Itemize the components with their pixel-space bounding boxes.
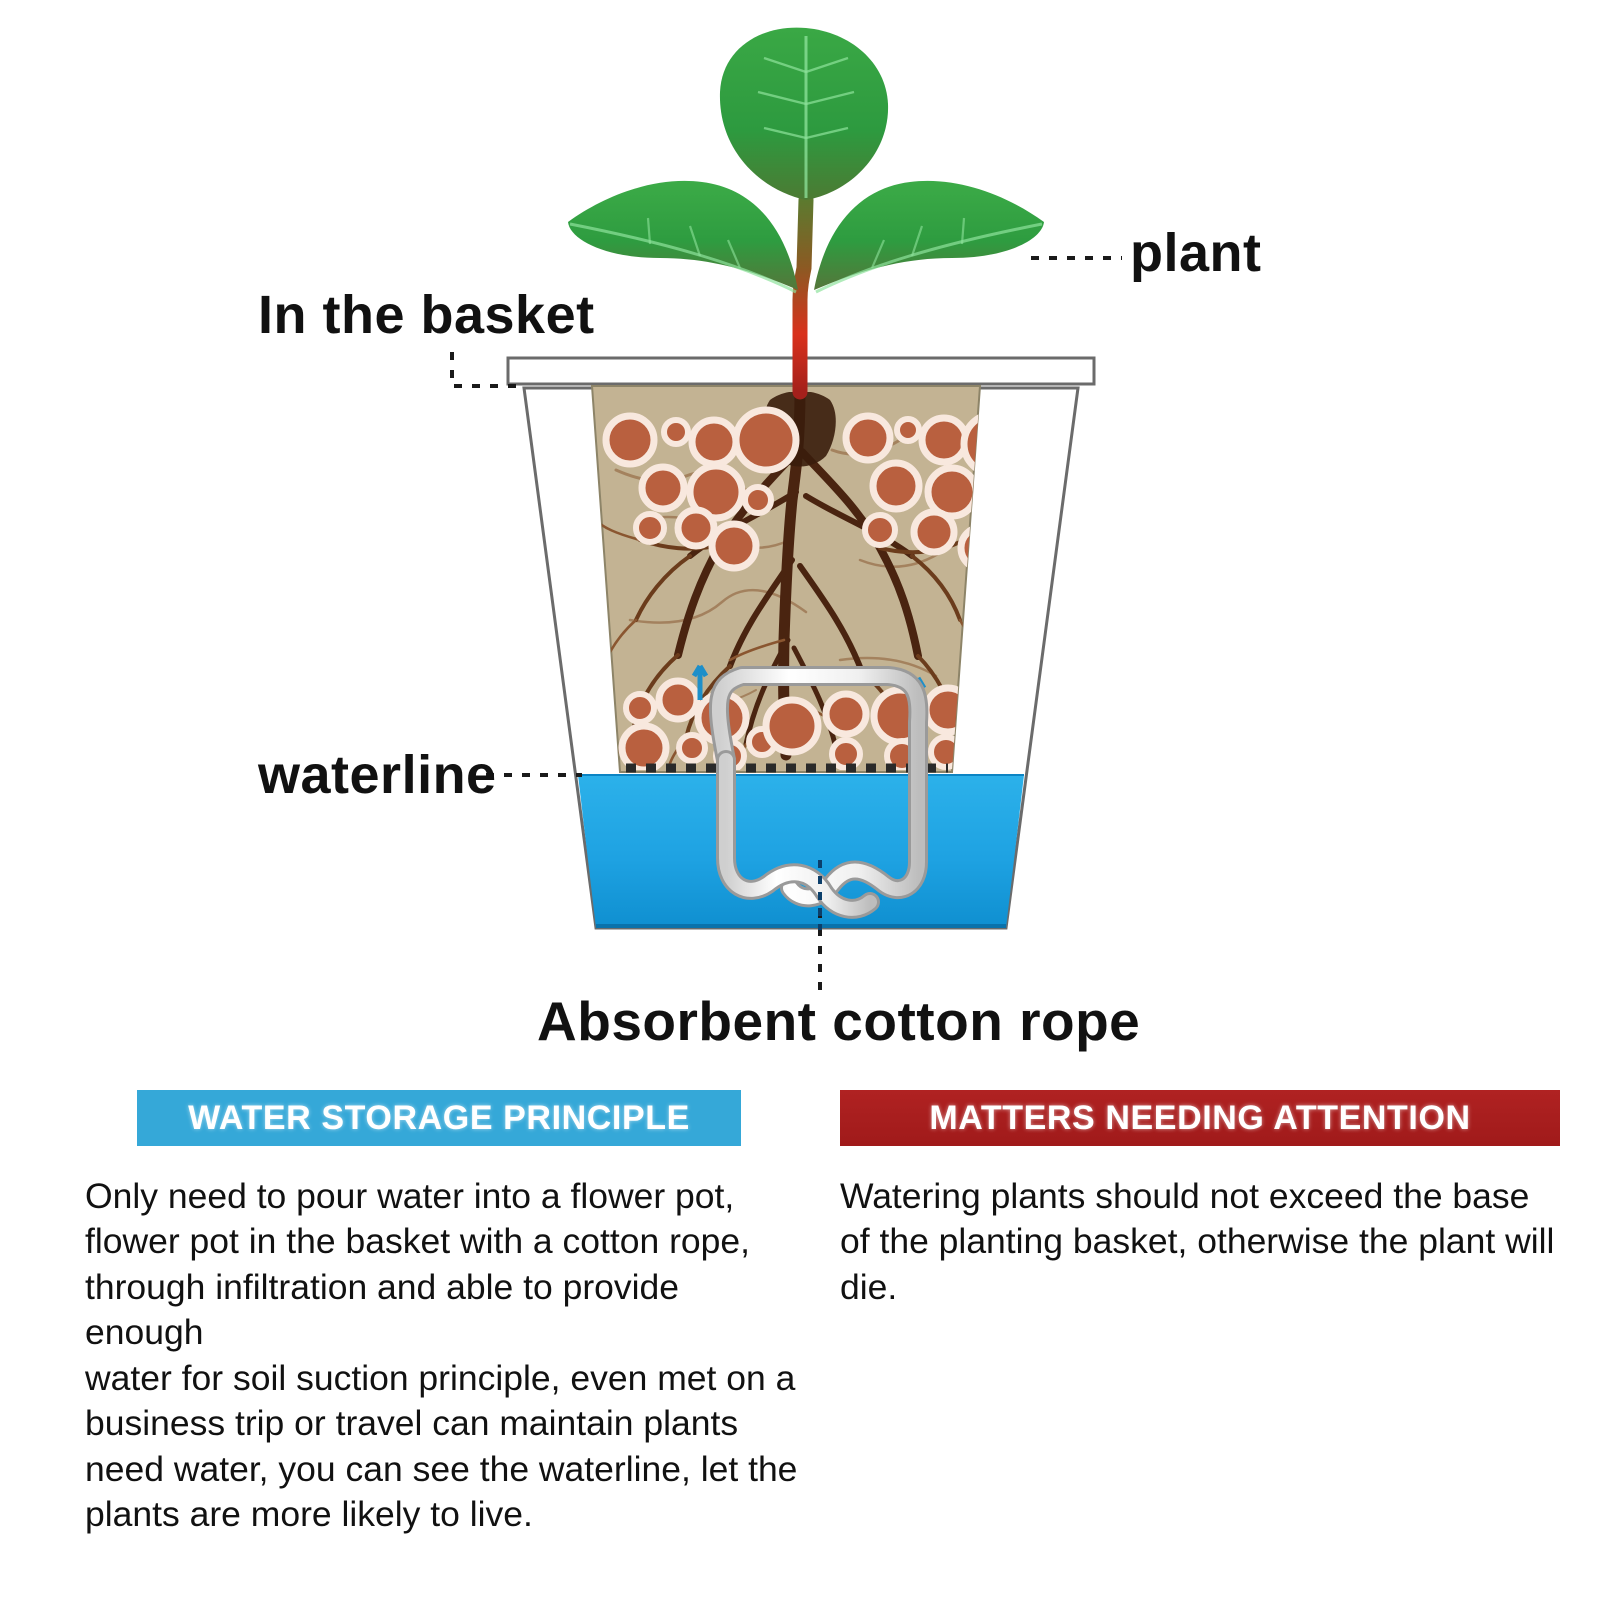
leaf-right [814,181,1044,292]
label-absorbent-cotton-rope: Absorbent cotton rope [537,994,1140,1049]
info-panels: WATER STORAGE PRINCIPLE Only need to pou… [0,1090,1600,1600]
self-watering-pot-diagram: plant In the basket waterline Absorbent … [0,0,1600,1090]
leaf-center [720,28,888,200]
text-water-storage-principle: Only need to pour water into a flower po… [85,1174,799,1538]
leader-basket [452,352,516,386]
page-root: plant In the basket waterline Absorbent … [0,0,1600,1600]
banner-matters-needing-attention: MATTERS NEEDING ATTENTION [840,1090,1560,1146]
text-matters-needing-attention: Watering plants should not exceed the ba… [840,1174,1566,1310]
panel-matters-needing-attention: MATTERS NEEDING ATTENTION Watering plant… [840,1090,1560,1310]
panel-water-storage-principle: WATER STORAGE PRINCIPLE Only need to pou… [85,1090,795,1538]
banner-water-storage-principle: WATER STORAGE PRINCIPLE [137,1090,741,1146]
stem [800,200,806,392]
leaf-left [568,181,798,292]
label-in-the-basket: In the basket [258,288,595,342]
pot-illustration [0,0,1600,1090]
plant-graphic [568,28,1044,392]
label-plant: plant [1130,226,1262,280]
label-waterline: waterline [258,748,497,802]
